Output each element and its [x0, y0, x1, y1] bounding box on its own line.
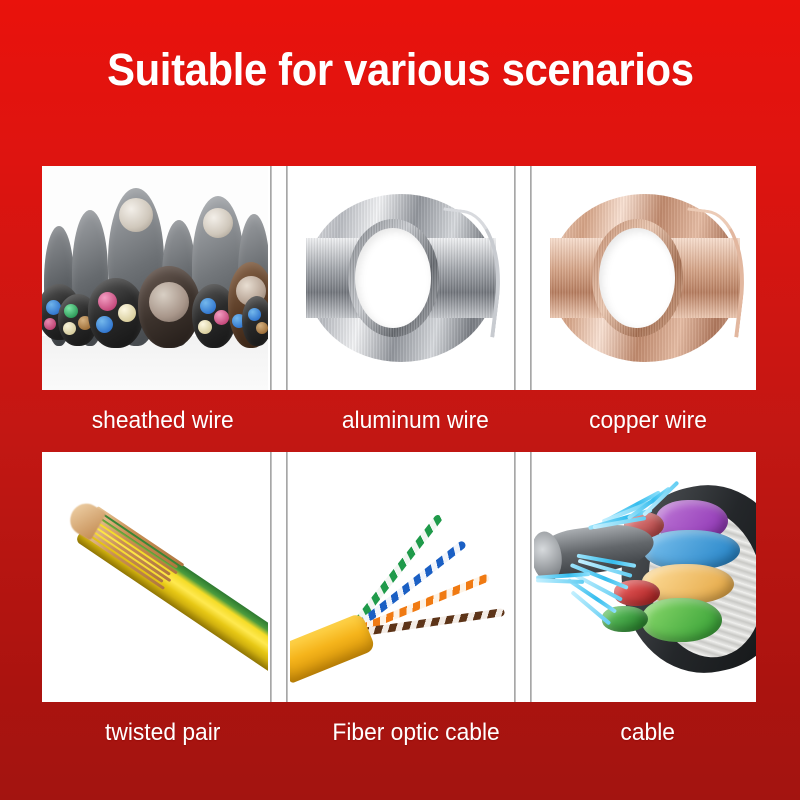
- divider-2-2: [512, 452, 534, 702]
- gallery-item-aluminum-wire[interactable]: [290, 166, 512, 390]
- divider-1-2: [512, 166, 534, 390]
- aluminum-wire-photo: [290, 166, 512, 390]
- sheathed-wire-photo: [42, 166, 268, 390]
- poster-root: Suitable for various scenarios: [0, 0, 800, 800]
- page-title: Suitable for various scenarios: [107, 44, 694, 96]
- gallery-item-cable[interactable]: [534, 452, 756, 702]
- cable-photo: [534, 452, 756, 702]
- copper-wire-photo: [534, 166, 756, 390]
- twisted-pair-photo: [42, 452, 268, 702]
- divider-2-1: [268, 452, 290, 702]
- fiber-optic-cable-photo: [290, 452, 512, 702]
- gallery-row-2: [42, 452, 756, 702]
- caption-fiber-optic-cable: Fiber optic cable: [332, 719, 499, 747]
- gallery-item-fiber-optic-cable[interactable]: [290, 452, 512, 702]
- caption-sheathed-wire: sheathed wire: [92, 407, 234, 435]
- caption-copper-wire: copper wire: [589, 407, 707, 435]
- gallery-item-copper-wire[interactable]: [534, 166, 756, 390]
- caption-cable: cable: [621, 719, 676, 747]
- gallery-item-sheathed-wire[interactable]: [42, 166, 268, 390]
- gallery-row-1: [42, 166, 756, 390]
- divider-1-1: [268, 166, 290, 390]
- gallery-item-twisted-pair[interactable]: [42, 452, 268, 702]
- title-bar: Suitable for various scenarios: [0, 0, 800, 140]
- caption-row-1: sheathed wire aluminum wire copper wire: [42, 390, 756, 452]
- caption-twisted-pair: twisted pair: [105, 719, 220, 747]
- caption-aluminum-wire: aluminum wire: [342, 407, 489, 435]
- caption-row-2: twisted pair Fiber optic cable cable: [42, 702, 756, 764]
- scenario-gallery: sheathed wire aluminum wire copper wire: [42, 166, 756, 764]
